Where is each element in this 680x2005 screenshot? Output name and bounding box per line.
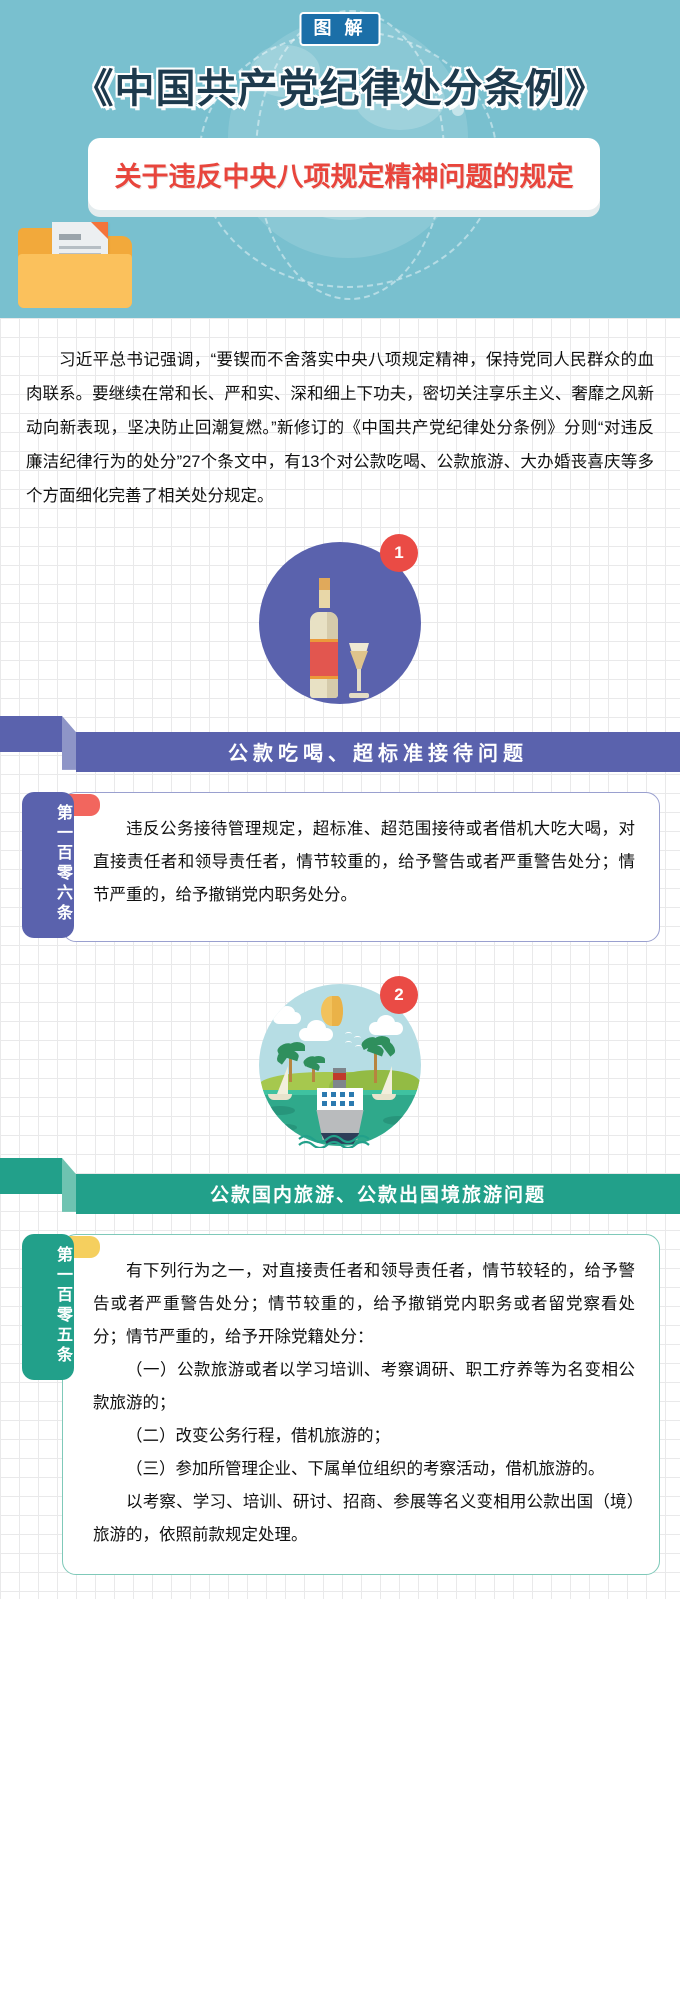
bottle-label [310,642,338,676]
page-title: 《中国共产党纪律处分条例》 [0,56,680,114]
glass-foot [349,693,369,698]
section-2-banner: 公款国内旅游、公款出国境旅游问题 [0,1158,680,1212]
section-2-banner-title: 公款国内旅游、公款出国境旅游问题 [76,1174,680,1214]
glass-wine-fill [350,651,368,669]
wave-shape [383,1116,413,1125]
section-1-banner: 公款吃喝、超标准接待问题 [0,716,680,770]
cloud-icon [273,1012,301,1024]
banner-ribbon-tail [0,716,62,752]
wine-glass-shape [347,643,371,698]
glass-stem [357,669,361,691]
article-list-item: （三）参加所管理企业、下属单位组织的考察活动，借机旅游的。 [93,1453,635,1486]
wave-shape [265,1106,295,1115]
subtitle-plate: 关于违反中央八项规定精神问题的规定 [88,138,600,210]
wave-shape [275,1124,297,1131]
article-card: 违反公务接待管理规定，超标准、超范围接待或者借机大吃大喝，对直接责任者和领导责任… [62,792,660,942]
section-1-illustration: 1 [0,534,680,714]
section-2-illustration: 2 [0,976,680,1156]
document-text-line [59,234,81,240]
folder-front [18,254,132,308]
article-card: 有下列行为之一，对直接责任者和领导责任者，情节较轻的，给予警告或者严重警告处分；… [62,1234,660,1575]
article-body-text: 违反公务接待管理规定，超标准、超范围接待或者借机大吃大喝，对直接责任者和领导责任… [93,813,635,912]
folder-documents-icon [18,222,132,308]
section-1-article: 第一百零六条 违反公务接待管理规定，超标准、超范围接待或者借机大吃大喝，对直接责… [22,792,660,942]
article-list-item: （二）改变公务行程，借机旅游的； [93,1420,635,1453]
article-body-text: 有下列行为之一，对直接责任者和领导责任者，情节较轻的，给予警告或者严重警告处分；… [93,1255,635,1354]
section-1-banner-title: 公款吃喝、超标准接待问题 [76,732,680,772]
document-text-line [59,246,101,249]
infographic-page: 图 解 《中国共产党纪律处分条例》 关于违反中央八项规定精神问题的规定 习 [0,0,680,1599]
section-number-badge: 1 [380,534,418,572]
wine-bottle-shape [309,578,339,698]
article-number-label: 第一百零六条 [22,792,74,938]
water-ripple-icon [297,1134,383,1148]
intro-paragraph: 习近平总书记强调，“要锲而不舍落实中央八项规定精神，保持党同人民群众的血肉联系。… [0,318,680,524]
section-number-badge: 2 [380,976,418,1014]
header-banner: 图 解 《中国共产党纪律处分条例》 关于违反中央八项规定精神问题的规定 [0,0,680,318]
bird-icon [345,1032,352,1036]
article-number-label: 第一百零五条 [22,1234,74,1380]
body-content: 习近平总书记强调，“要锲而不舍落实中央八项规定精神，保持党同人民群众的血肉联系。… [0,318,680,1599]
tag-tujie: 图 解 [299,12,380,46]
bird-icon [354,1036,361,1040]
bird-icon [345,1041,352,1045]
document-fold-corner [91,222,108,239]
article-closing-text: 以考察、学习、培训、研讨、招商、参展等名义变相用公款出国（境）旅游的，依照前款规… [93,1486,635,1552]
cloud-icon [369,1022,403,1035]
banner-ribbon-tail [0,1158,62,1194]
bottle-label-edge [310,676,338,679]
section-2-article: 第一百零五条 有下列行为之一，对直接责任者和领导责任者，情节较轻的，给予警告或者… [22,1234,660,1575]
sun-shade [332,996,343,1026]
bottle-label-edge [310,639,338,642]
bottle-cap [319,578,330,590]
ship-funnel-band [333,1073,346,1080]
banner-ribbon-fold [62,1158,76,1212]
banner-ribbon-fold [62,716,76,770]
page-subtitle: 关于违反中央八项规定精神问题的规定 [115,155,574,194]
cloud-icon [299,1028,333,1041]
article-list-item: （一）公款旅游或者以学习培训、考察调研、职工疗养等为名变相公款旅游的； [93,1354,635,1420]
